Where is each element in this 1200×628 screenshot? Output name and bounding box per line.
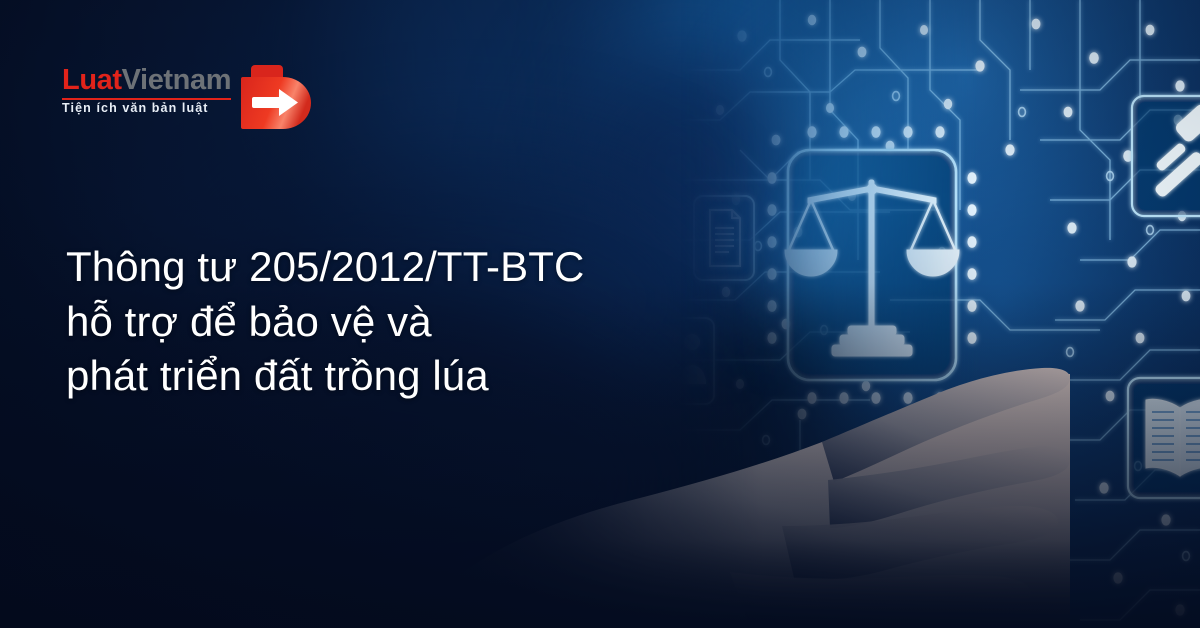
luatvietnam-logo[interactable]: LuatVietnam Tiện ích văn bản luật [62,62,311,136]
logo-wordmark-luat: Luat [62,64,122,96]
logo-divider [62,98,231,100]
page-title-line-2: hỗ trợ để bảo vệ và [66,295,706,350]
page-title-line-1: Thông tư 205/2012/TT-BTC [66,240,706,295]
logo-wordmark: LuatVietnam [62,66,231,95]
page-title: Thông tư 205/2012/TT-BTC hỗ trợ để bảo v… [66,240,706,404]
page-title-line-3: phát triển đất trồng lúa [66,349,706,404]
logo-text-block: LuatVietnam Tiện ích văn bản luật [62,62,231,115]
red-folder-arrow-icon [239,63,311,136]
promo-banner: LuatVietnam Tiện ích văn bản luật [0,0,1200,628]
logo-wordmark-vietnam: Vietnam [122,64,232,96]
logo-tagline: Tiện ích văn bản luật [62,102,231,115]
